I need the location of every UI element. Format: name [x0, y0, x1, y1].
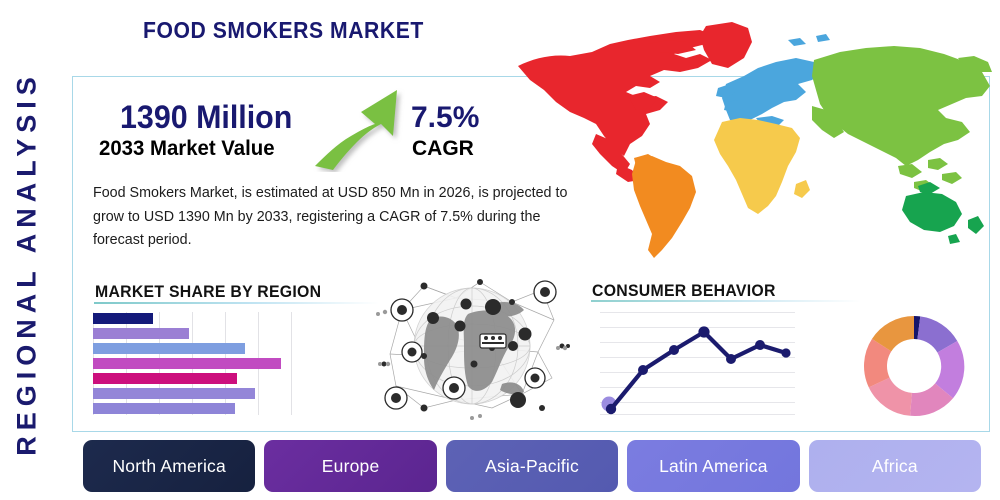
region-button-bar: North America Europe Asia-Pacific Latin …	[83, 440, 981, 492]
table-row	[93, 388, 255, 399]
market-share-bar-chart	[93, 312, 293, 415]
region-button-label: Latin America	[659, 456, 768, 477]
region-button-latin-america[interactable]: Latin America	[627, 440, 799, 492]
region-button-label: Europe	[322, 456, 380, 477]
table-row	[93, 403, 235, 414]
cagr-caption: CAGR	[412, 137, 474, 161]
region-button-label: Africa	[872, 456, 918, 477]
bar-segment	[93, 403, 235, 414]
cagr-number: 7.5%	[411, 101, 479, 135]
side-label-regional-analysis: REGIONAL ANALYSIS	[12, 49, 43, 479]
section-title-market-share: MARKET SHARE BY REGION	[95, 282, 321, 302]
bar-segment	[93, 358, 281, 369]
region-button-africa[interactable]: Africa	[809, 440, 981, 492]
bar-segment	[93, 373, 237, 384]
description-text: Food Smokers Market, is estimated at USD…	[93, 182, 580, 253]
section-rule-market-share	[94, 302, 379, 304]
infographic-root: REGIONAL ANALYSIS FOOD SMOKERS MARKET	[0, 0, 1000, 500]
bar-segment	[93, 328, 189, 339]
region-button-asia-pacific[interactable]: Asia-Pacific	[446, 440, 618, 492]
bar-segment	[93, 388, 255, 399]
table-row	[93, 313, 153, 324]
bar-segment	[93, 343, 245, 354]
table-row	[93, 328, 189, 339]
region-button-north-america[interactable]: North America	[83, 440, 255, 492]
global-network-globe-icon	[372, 268, 572, 423]
market-value-caption: 2033 Market Value	[99, 137, 275, 161]
consumer-behavior-line-chart	[600, 312, 795, 415]
growth-arrow-up-icon	[313, 84, 405, 172]
page-title: FOOD SMOKERS MARKET	[143, 17, 424, 44]
table-row	[93, 358, 281, 369]
bar-segment	[93, 313, 153, 324]
consumer-segments-donut-chart	[855, 307, 973, 425]
region-button-label: North America	[112, 456, 225, 477]
table-row	[93, 373, 237, 384]
section-rule-consumer-behavior	[591, 300, 861, 302]
table-row	[93, 343, 245, 354]
region-button-label: Asia-Pacific	[485, 456, 579, 477]
region-button-europe[interactable]: Europe	[264, 440, 436, 492]
market-value-number: 1390 Million	[120, 99, 292, 136]
section-title-consumer-behavior: CONSUMER BEHAVIOR	[592, 281, 776, 301]
